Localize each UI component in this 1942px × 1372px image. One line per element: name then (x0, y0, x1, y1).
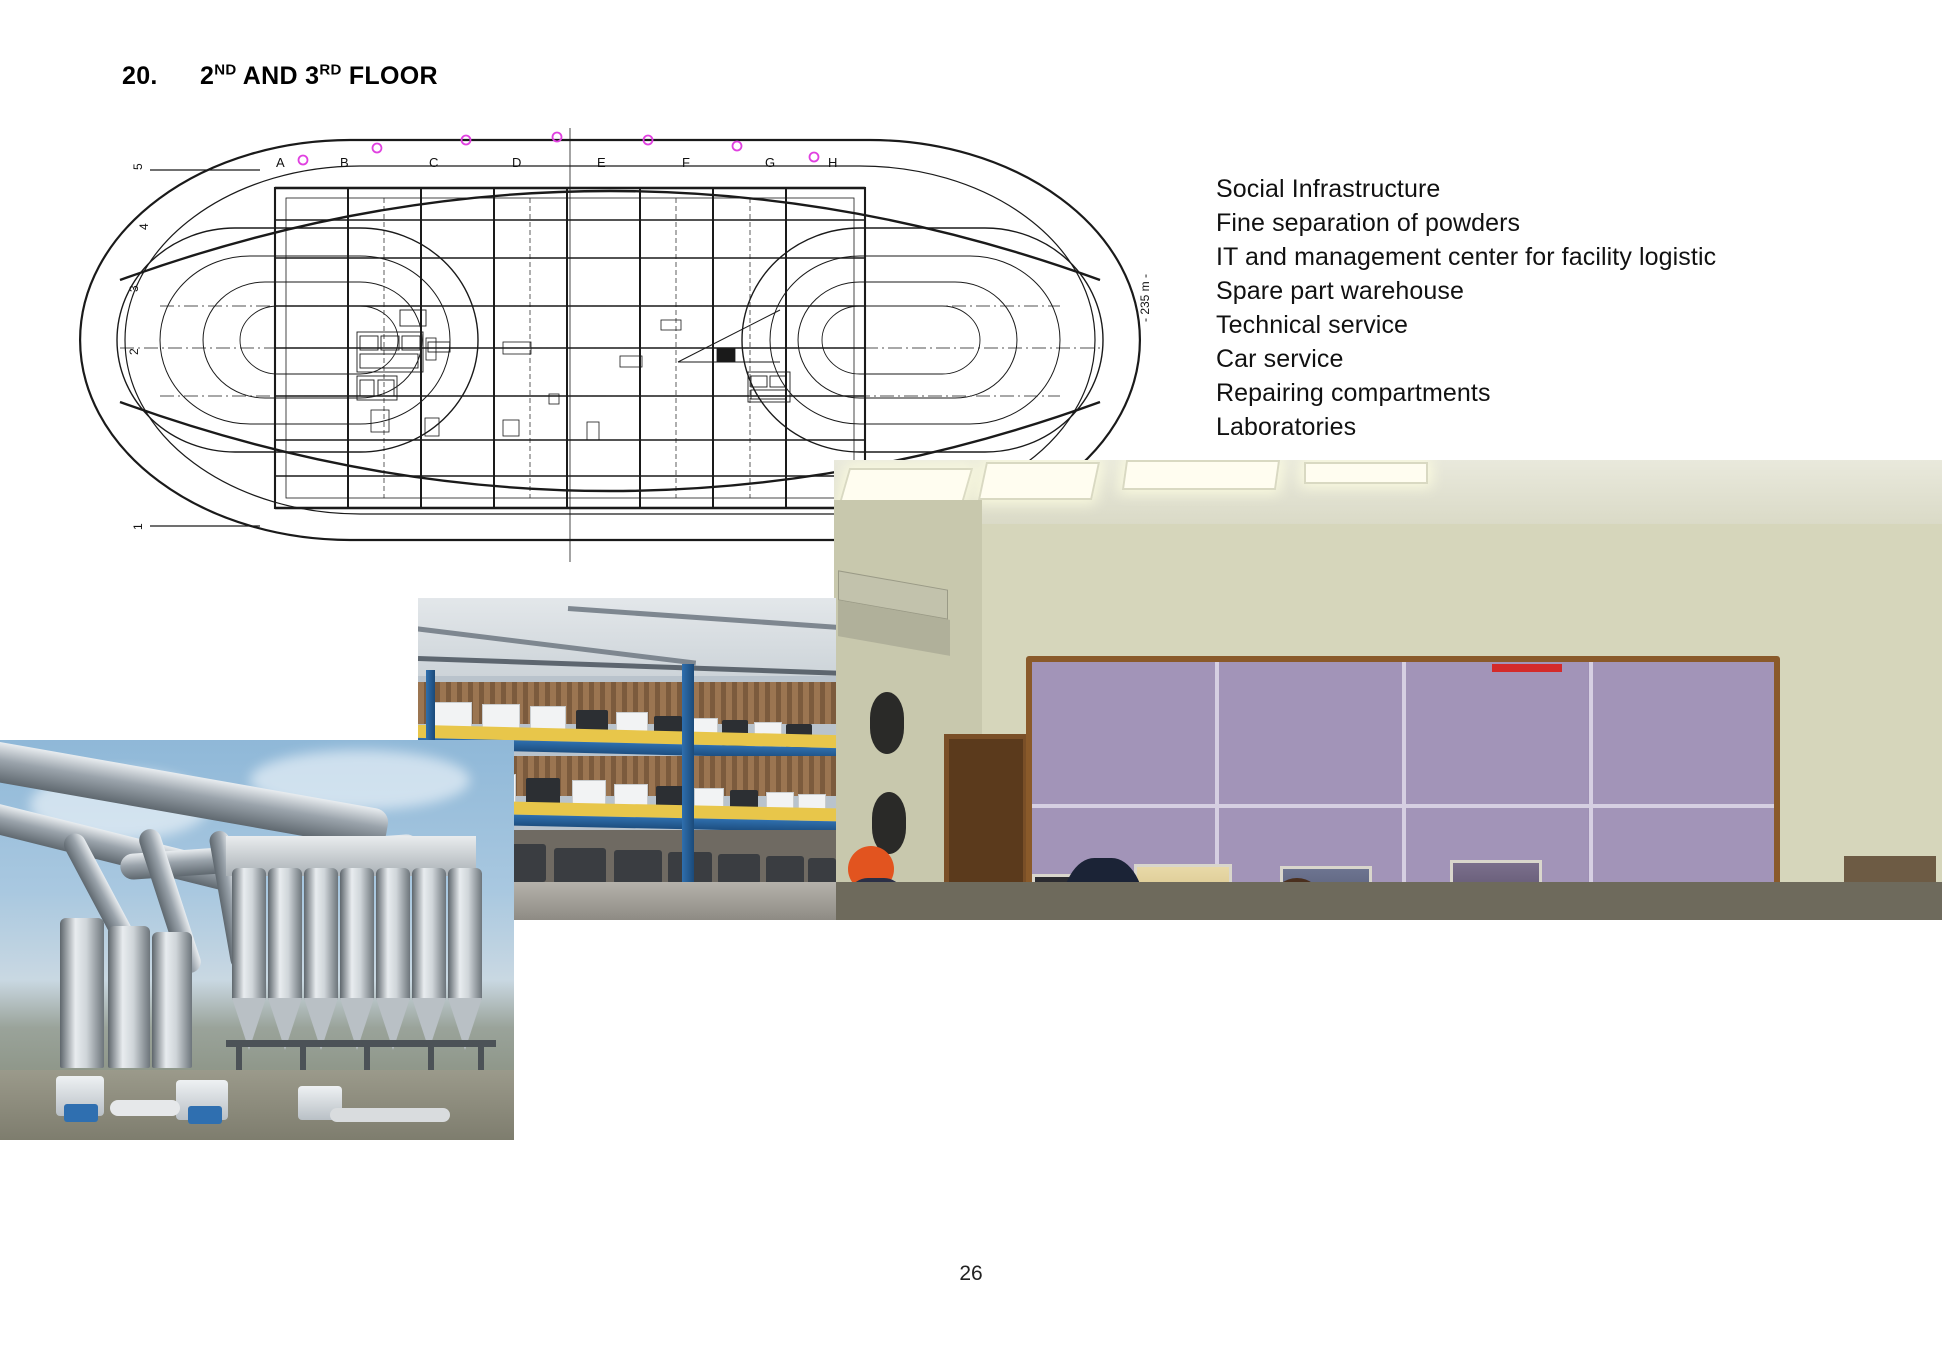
title-text: 2ND AND 3RD FLOOR (200, 62, 438, 90)
column-labels: A B C D E F G H (276, 155, 837, 170)
svg-text:G: G (765, 155, 775, 170)
title-prefix: 2 (200, 62, 214, 90)
page-number: 26 (0, 1262, 1942, 1286)
list-item: Laboratories (1216, 410, 1716, 444)
list-item: Spare part warehouse (1216, 274, 1716, 308)
svg-text:3: 3 (127, 285, 141, 292)
svg-text:5: 5 (131, 163, 145, 170)
warehouse-roof (418, 598, 836, 676)
slide-number: 20. (122, 62, 200, 91)
svg-text:B: B (340, 155, 349, 170)
row-labels: 5 4 3 2 1 (127, 163, 151, 530)
page-title: 20.2ND AND 3RD FLOOR (122, 62, 438, 91)
svg-text:F: F (682, 155, 690, 170)
svg-text:A: A (276, 155, 285, 170)
svg-text:C: C (429, 155, 438, 170)
list-item: Repairing compartments (1216, 376, 1716, 410)
ceiling-light-icon (1304, 462, 1428, 484)
svg-text:1: 1 (131, 523, 145, 530)
ceiling-light-icon (978, 462, 1100, 500)
title-suffix: FLOOR (342, 62, 438, 90)
list-item: IT and management center for facility lo… (1216, 240, 1716, 274)
list-item: Social Infrastructure (1216, 172, 1716, 206)
svg-text:H: H (828, 155, 837, 170)
floor (834, 882, 1942, 920)
svg-text:4: 4 (137, 223, 151, 230)
svg-text:2: 2 (127, 348, 141, 355)
rack-upright (682, 664, 694, 886)
title-middle: AND 3 (236, 62, 319, 90)
control-room-photo (834, 460, 1942, 920)
floor-plan-vertical-dimension: - 235 m - (1138, 274, 1152, 322)
svg-text:D: D (512, 155, 521, 170)
survey-markers (299, 133, 819, 165)
list-item: Technical service (1216, 308, 1716, 342)
svg-text:E: E (597, 155, 606, 170)
wall-speaker-icon (872, 792, 906, 854)
title-superscript-nd: ND (214, 62, 236, 79)
list-item: Fine separation of powders (1216, 206, 1716, 240)
dust-collection-cyclones-photo (0, 740, 514, 1140)
list-item: Car service (1216, 342, 1716, 376)
wall-speaker-icon (870, 692, 904, 754)
title-superscript-rd: RD (319, 62, 341, 79)
ceiling-light-icon (1122, 460, 1280, 490)
slide-page: 20.2ND AND 3RD FLOOR (0, 0, 1942, 1372)
spec-list: Social Infrastructure Fine separation of… (1216, 172, 1716, 444)
